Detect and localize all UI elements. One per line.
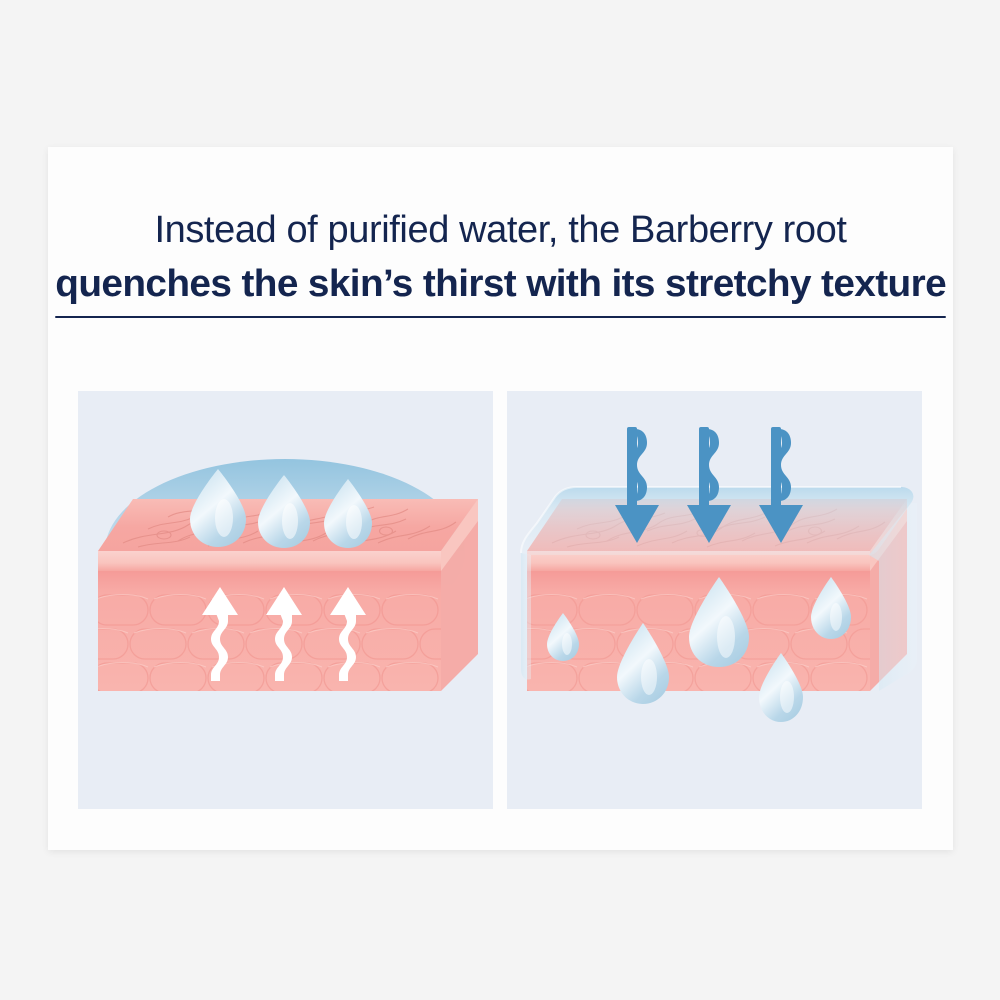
headline-block: Instead of purified water, the Barberry … [48, 205, 953, 318]
headline-line-1: Instead of purified water, the Barberry … [48, 205, 953, 255]
illustration-panel-dry-skin [78, 391, 493, 809]
headline-line-2: quenches the skin’s thirst with its stre… [55, 259, 946, 318]
dermis-layer [98, 571, 441, 691]
epidermis-layer [98, 551, 441, 571]
illustration-panel-moisturized-skin [507, 391, 922, 809]
moisture-barrier-diagram [507, 391, 922, 809]
headline-line-2-wrapper: quenches the skin’s thirst with its stre… [48, 259, 953, 318]
moisture-absorb-arrows [615, 427, 803, 543]
content-card: Instead of purified water, the Barberry … [48, 147, 953, 850]
dry-skin-diagram [78, 391, 493, 809]
infographic-root: Instead of purified water, the Barberry … [0, 0, 1000, 1000]
